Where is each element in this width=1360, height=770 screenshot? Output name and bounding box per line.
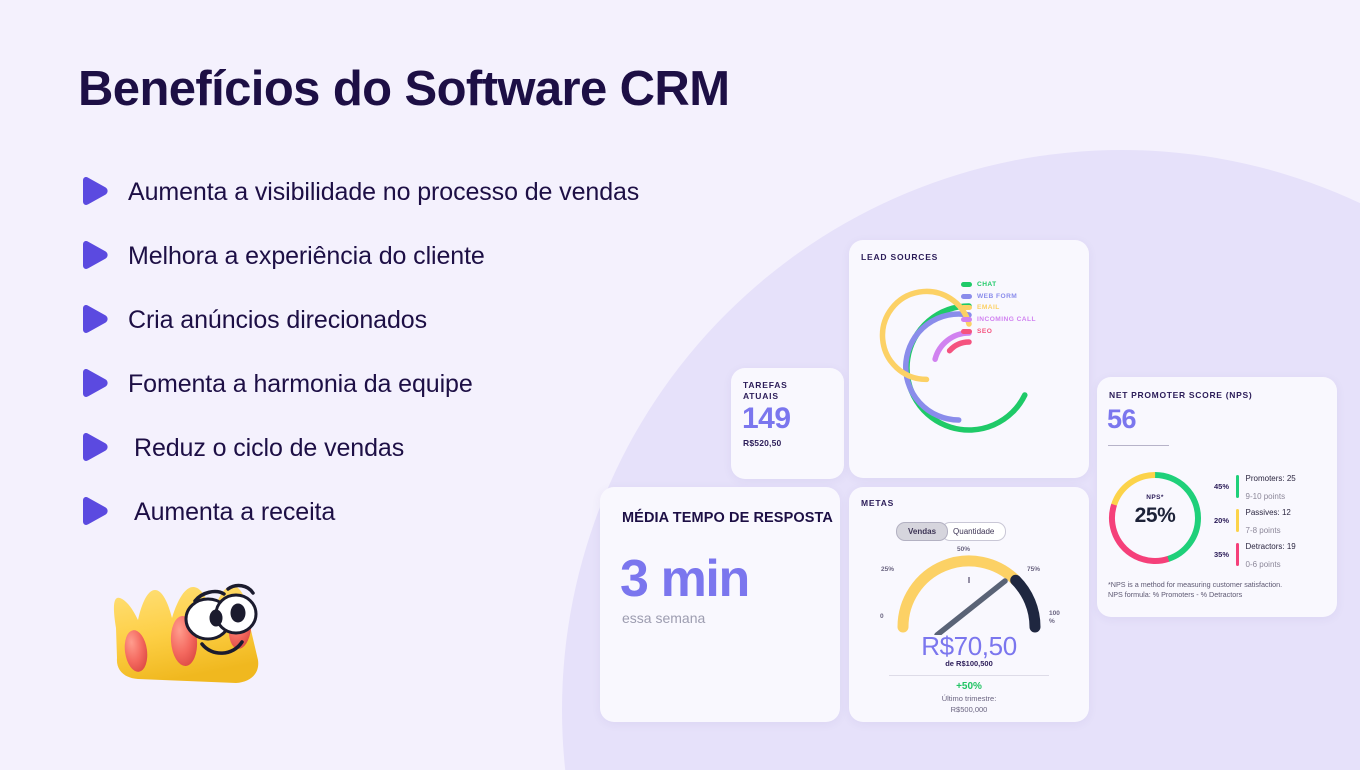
legend-swatch-incoming-call <box>961 317 972 322</box>
list-item-label: Reduz o ciclo de vendas <box>128 433 404 463</box>
list-item: Cria anúncios direcionados <box>76 288 836 352</box>
card-tarefas-atuais[interactable]: TAREFAS ATUAIS 149 R$520,50 <box>731 368 844 479</box>
legend-label: WEB FORM <box>977 293 1017 300</box>
list-item-label: Aumenta a visibilidade no processo de ve… <box>128 177 639 207</box>
flag-bullet-icon <box>76 238 112 274</box>
legend-main: Promoters: 25 <box>1246 474 1296 483</box>
card-title: TAREFAS ATUAIS <box>743 380 823 402</box>
metas-target: de R$100,500 <box>849 659 1089 668</box>
legend-swatch-email <box>961 305 972 310</box>
nps-donut-label: NPS* <box>1105 494 1205 501</box>
toggle-vendas[interactable]: Vendas <box>896 522 948 541</box>
legend-item: 45% Promoters: 25 9-10 points <box>1207 469 1333 503</box>
crown-mascot-illustration <box>98 556 278 691</box>
card-title: MÉDIA TEMPO DE RESPOSTA <box>622 509 833 528</box>
legend-text: Detractors: 19 0-6 points <box>1246 536 1296 572</box>
card-media-tempo-resposta[interactable]: MÉDIA TEMPO DE RESPOSTA 3 min essa seman… <box>600 487 840 722</box>
legend-swatch-seo <box>961 329 972 334</box>
gauge-tick-50: 50% <box>957 546 970 553</box>
tarefas-value: 149 <box>742 404 791 434</box>
legend-percent: 35% <box>1207 550 1229 559</box>
nps-foot-line2: NPS formula: % Promoters - % Detractors <box>1108 590 1242 599</box>
legend-label: INCOMING CALL <box>977 316 1036 323</box>
media-tempo-value: 3 min <box>620 550 749 608</box>
legend-text: Passives: 12 7-8 points <box>1246 502 1291 538</box>
slide-canvas: Benefícios do Software CRM Aumenta a vis… <box>0 0 1360 770</box>
flag-bullet-icon <box>76 366 112 402</box>
nps-foot-line1: *NPS is a method for measuring customer … <box>1108 580 1282 589</box>
card-net-promoter-score[interactable]: NET PROMOTER SCORE (NPS) 56 NPS* 25% 45%… <box>1097 377 1337 617</box>
lead-sources-legend: CHAT WEB FORM EMAIL INCOMING CALL SEO <box>961 279 1036 337</box>
legend-swatch-chat <box>961 282 972 287</box>
flag-bullet-icon <box>76 430 112 466</box>
card-title: METAS <box>861 498 894 508</box>
divider <box>1108 445 1169 446</box>
legend-text: Promoters: 25 9-10 points <box>1246 468 1296 504</box>
legend-item: EMAIL <box>961 302 1036 314</box>
nps-score-value: 56 <box>1107 404 1136 434</box>
flag-bullet-icon <box>76 174 112 210</box>
metas-value: R$70,50 <box>849 631 1089 661</box>
card-title: NET PROMOTER SCORE (NPS) <box>1109 390 1252 400</box>
legend-bar-passives <box>1236 509 1239 532</box>
nps-legend: 45% Promoters: 25 9-10 points 20% Passiv… <box>1207 469 1333 571</box>
flag-bullet-icon <box>76 494 112 530</box>
legend-sub: 7-8 points <box>1246 526 1281 535</box>
gauge-tick-100: 100% <box>1049 610 1060 626</box>
legend-percent: 20% <box>1207 516 1229 525</box>
list-item-label: Aumenta a receita <box>128 497 335 527</box>
legend-percent: 45% <box>1207 482 1229 491</box>
metas-gauge-chart: 0 25% 50% 75% 100% <box>869 545 1069 635</box>
metas-footnote: Último trimestre: R$500,000 <box>849 694 1089 715</box>
legend-label: CHAT <box>977 281 997 288</box>
legend-item: WEB FORM <box>961 291 1036 303</box>
tarefas-subvalue: R$520,50 <box>743 438 781 448</box>
nps-donut-value: 25% <box>1105 504 1205 528</box>
list-item-label: Melhora a experiência do cliente <box>128 241 485 271</box>
legend-main: Passives: 12 <box>1246 508 1291 517</box>
legend-bar-detractors <box>1236 543 1239 566</box>
divider <box>889 675 1049 676</box>
metas-delta: +50% <box>849 681 1089 692</box>
legend-label: EMAIL <box>977 304 1000 311</box>
legend-bar-promoters <box>1236 475 1239 498</box>
legend-swatch-web-form <box>961 294 972 299</box>
list-item-label: Fomenta a harmonia da equipe <box>128 369 473 399</box>
flag-bullet-icon <box>76 302 112 338</box>
list-item: Reduz o ciclo de vendas <box>76 416 836 480</box>
card-metas[interactable]: METAS Vendas Quantidade 0 25% 50% 75% 10… <box>849 487 1089 722</box>
list-item: Fomenta a harmonia da equipe <box>76 352 836 416</box>
gauge-tick-75: 75% <box>1027 566 1040 573</box>
legend-main: Detractors: 19 <box>1246 542 1296 551</box>
list-item: Melhora a experiência do cliente <box>76 224 836 288</box>
nps-footnote: *NPS is a method for measuring customer … <box>1108 580 1328 600</box>
legend-item: 20% Passives: 12 7-8 points <box>1207 503 1333 537</box>
card-lead-sources[interactable]: LEAD SOURCES CHAT WEB FORM <box>849 240 1089 478</box>
toggle-quantidade[interactable]: Quantidade <box>941 522 1006 541</box>
legend-item: INCOMING CALL <box>961 314 1036 326</box>
media-tempo-subtitle: essa semana <box>622 609 705 627</box>
legend-item: CHAT <box>961 279 1036 291</box>
metas-foot-line1: Último trimestre: <box>942 694 997 703</box>
legend-item: SEO <box>961 325 1036 337</box>
metas-foot-line2: R$500,000 <box>951 705 988 714</box>
list-item: Aumenta a visibilidade no processo de ve… <box>76 160 836 224</box>
page-title: Benefícios do Software CRM <box>78 58 729 120</box>
legend-item: 35% Detractors: 19 0-6 points <box>1207 537 1333 571</box>
list-item-label: Cria anúncios direcionados <box>128 305 427 335</box>
metas-toggle-group[interactable]: Vendas Quantidade <box>896 522 1006 541</box>
gauge-tick-0: 0 <box>880 613 884 620</box>
legend-sub: 9-10 points <box>1246 492 1286 501</box>
gauge-tick-25: 25% <box>881 566 894 573</box>
legend-sub: 0-6 points <box>1246 560 1281 569</box>
legend-label: SEO <box>977 328 992 335</box>
